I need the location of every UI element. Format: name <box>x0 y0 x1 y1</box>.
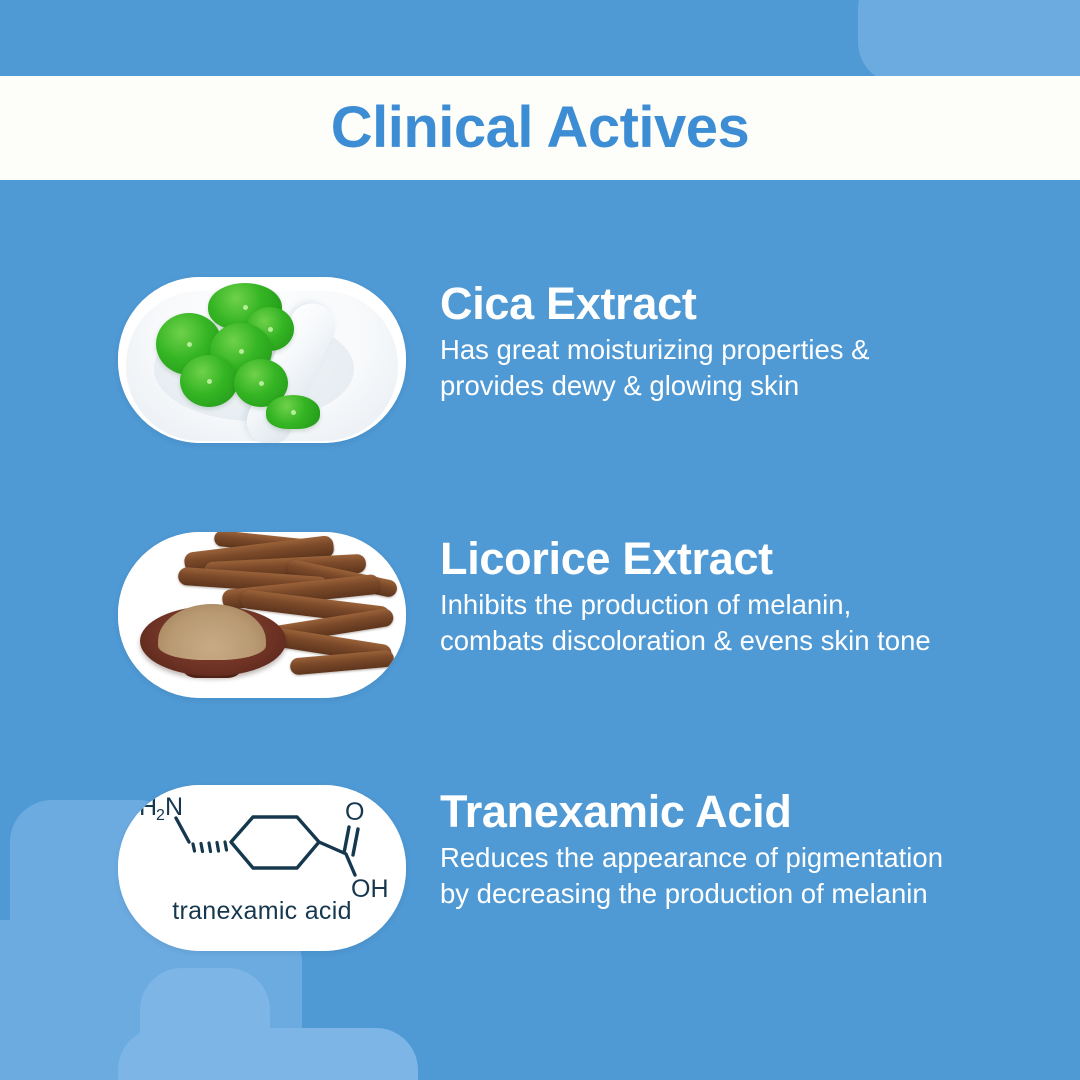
decorative-cross-bar-horizontal <box>858 0 1080 84</box>
ingredient-description-line2: combats discoloration & evens skin tone <box>440 623 1060 660</box>
ingredient-text-cica: Cica Extract Has great moisturizing prop… <box>440 277 1080 405</box>
ingredient-row-licorice-extract: Licorice Extract Inhibits the production… <box>0 532 1080 698</box>
amine-label: H <box>139 793 157 821</box>
ingredient-description-line1: Has great moisturizing properties & <box>440 334 870 365</box>
ingredient-image-card-cica <box>118 277 406 443</box>
ingredient-title: Licorice Extract <box>440 536 1080 583</box>
ingredient-image-card-tranexamic: H 2 N O OH tranexamic acid <box>118 785 406 951</box>
licorice-root-stick <box>289 650 394 676</box>
centella-leaf <box>180 355 238 407</box>
centella-leaves-in-mortar-photo <box>118 277 406 443</box>
ingredient-description: Inhibits the production of melanin, comb… <box>440 587 1060 660</box>
molecule-skeletal-structure-icon: H 2 N O OH <box>127 791 397 903</box>
hydroxyl-label: OH <box>351 875 389 903</box>
ingredient-description-line1: Reduces the appearance of pigmentation <box>440 842 943 873</box>
ingredient-description-line2: by decreasing the production of melanin <box>440 876 1060 913</box>
ingredient-text-licorice: Licorice Extract Inhibits the production… <box>440 532 1080 660</box>
ingredient-description-line2: provides dewy & glowing skin <box>440 368 1060 405</box>
header-band: Clinical Actives <box>0 76 1080 180</box>
ingredient-list: Cica Extract Has great moisturizing prop… <box>0 180 1080 1080</box>
ingredient-image-card-licorice <box>118 532 406 698</box>
molecule-name-label: tranexamic acid <box>172 899 352 924</box>
carbonyl-oxygen-label: O <box>345 798 364 826</box>
ingredient-description: Reduces the appearance of pigmentation b… <box>440 840 1060 913</box>
nitrogen-label: N <box>165 793 183 821</box>
ingredient-title: Tranexamic Acid <box>440 789 1080 836</box>
ingredient-title: Cica Extract <box>440 281 1080 328</box>
ingredient-text-tranexamic: Tranexamic Acid Reduces the appearance o… <box>440 785 1080 913</box>
tranexamic-acid-structure-diagram: H 2 N O OH tranexamic acid <box>118 785 406 951</box>
ingredient-row-cica-extract: Cica Extract Has great moisturizing prop… <box>0 277 1080 443</box>
licorice-roots-and-powder-photo <box>118 532 406 698</box>
amine-subscript: 2 <box>156 807 165 824</box>
centella-leaf <box>266 395 320 429</box>
ingredient-description: Has great moisturizing properties & prov… <box>440 332 1060 405</box>
ingredient-row-tranexamic-acid: H 2 N O OH tranexamic acid Tranexamic Ac… <box>0 785 1080 951</box>
ingredient-description-line1: Inhibits the production of melanin, <box>440 589 851 620</box>
infographic-page: Clinical Actives Cica <box>0 0 1080 1080</box>
page-title: Clinical Actives <box>331 99 750 157</box>
